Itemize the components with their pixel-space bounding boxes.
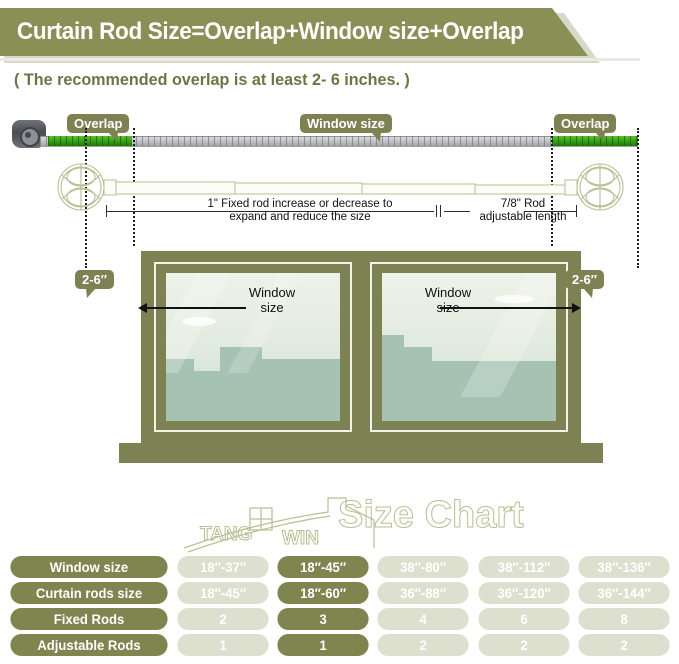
table-cell: 2 — [378, 634, 469, 656]
table-row: Curtain rods size 18″-45″ 18″-60″ 36″-88… — [8, 582, 671, 604]
building-silhouette — [194, 371, 220, 421]
tag-overlap-right-label: 2-6″ — [572, 272, 597, 287]
callout-window-size-label: Window size — [307, 116, 385, 131]
building-silhouette — [262, 359, 340, 421]
brand-logo: TANG WIN Size Chart — [178, 492, 508, 554]
rod-segment-3 — [362, 184, 475, 194]
window-size-label-right-line1: Window — [410, 285, 486, 300]
table-cell: 36″-144″ — [578, 582, 669, 604]
dim-text-adjustable-line1: 7/8" Rod — [462, 198, 584, 211]
table-cell: 18″-60″ — [278, 582, 369, 604]
table-cell: 4 — [378, 608, 469, 630]
table-cell: 18″-45″ — [278, 556, 369, 578]
tag-overlap-left-label: 2-6″ — [82, 272, 107, 287]
finial-left-icon — [58, 164, 104, 210]
callout-overlap-left: Overlap — [67, 114, 129, 133]
table-cell: 6 — [478, 608, 569, 630]
header-banner: Curtain Rod Size=Overlap+Window size+Ove… — [0, 8, 600, 58]
row-label: Curtain rods size — [10, 582, 167, 604]
callout-tail — [595, 132, 609, 142]
dim-text-fixed-rod-line2: expand and reduce the size — [178, 211, 422, 224]
callout-tail — [583, 288, 597, 298]
logo-title: Size Chart — [338, 494, 524, 537]
table-cell: 18″-37″ — [177, 556, 268, 578]
callout-tail — [108, 132, 122, 142]
callout-overlap-left-label: Overlap — [74, 116, 122, 131]
tag-overlap-right: 2-6″ — [565, 270, 604, 289]
dim-cap-fixed-left — [106, 205, 107, 217]
overlap-ticks-right — [552, 136, 638, 146]
rod-segment-4 — [475, 185, 565, 194]
dim-break-a — [436, 205, 437, 217]
callout-tail — [82, 288, 96, 298]
cloud-shape — [182, 317, 216, 326]
callout-window-size: Window size — [300, 114, 392, 133]
table-cell: 38″-112″ — [478, 556, 569, 578]
tape-measure-hub-icon — [25, 132, 31, 138]
rod-collar-right — [565, 180, 577, 195]
rod-segment-2 — [235, 183, 362, 194]
page-title: Curtain Rod Size=Overlap+Window size+Ove… — [0, 18, 524, 46]
table-cell: 8 — [578, 608, 669, 630]
building-silhouette — [382, 335, 404, 421]
table-cell: 36″-120″ — [478, 582, 569, 604]
measure-arrow-line-left — [146, 307, 246, 309]
cloud-shape — [494, 295, 534, 303]
building-silhouette — [404, 347, 432, 421]
dim-break-b — [440, 205, 441, 217]
callout-overlap-right-label: Overlap — [561, 116, 609, 131]
table-cell: 38″-136″ — [578, 556, 669, 578]
callout-overlap-right: Overlap — [554, 114, 616, 133]
window-size-label-right: Window size — [410, 285, 486, 315]
rod-collar-left — [104, 180, 116, 195]
table-cell: 1 — [177, 634, 268, 656]
window-sill — [119, 443, 603, 463]
logo-brand-right: WIN — [282, 528, 319, 549]
window-size-label-left: Window size — [234, 285, 310, 315]
dim-text-fixed-rod-line1: 1" Fixed rod increase or decrease to — [178, 198, 422, 211]
table-cell: 1 — [278, 634, 369, 656]
row-label: Window size — [10, 556, 167, 578]
table-cell: 18″-45″ — [177, 582, 268, 604]
table-row: Fixed Rods 2 3 4 6 8 — [8, 608, 671, 630]
header-subtitle: ( The recommended overlap is at least 2-… — [14, 70, 410, 90]
dim-text-fixed-rod: 1" Fixed rod increase or decrease to exp… — [178, 198, 422, 224]
size-table: Window size 18″-37″ 18″-45″ 38″-80″ 38″-… — [8, 556, 671, 660]
size-chart-infographic: Curtain Rod Size=Overlap+Window size+Ove… — [0, 0, 679, 664]
table-row: Adjustable Rods 1 1 2 2 2 — [8, 634, 671, 656]
table-row: Window size 18″-37″ 18″-45″ 38″-80″ 38″-… — [8, 556, 671, 578]
measure-arrow-line-right — [440, 307, 572, 309]
rod-segment-1 — [116, 182, 235, 194]
table-cell: 2 — [177, 608, 268, 630]
row-label: Adjustable Rods — [10, 634, 167, 656]
table-cell: 38″-80″ — [378, 556, 469, 578]
table-cell: 2 — [478, 634, 569, 656]
measure-arrowhead-right — [572, 303, 581, 313]
window-size-label-left-line1: Window — [234, 285, 310, 300]
tag-overlap-left: 2-6″ — [75, 270, 114, 289]
measure-arrowhead-left — [138, 303, 147, 313]
table-cell: 3 — [278, 608, 369, 630]
dim-text-adjustable-line2: adjustable length — [462, 211, 584, 224]
dim-text-adjustable: 7/8" Rod adjustable length — [462, 198, 584, 224]
row-label: Fixed Rods — [10, 608, 167, 630]
logo-brand-left: TANG — [200, 524, 252, 545]
banner-underline — [0, 58, 640, 61]
table-cell: 36″-88″ — [378, 582, 469, 604]
banner-ribbon: Curtain Rod Size=Overlap+Window size+Ove… — [0, 8, 588, 56]
table-cell: 2 — [578, 634, 669, 656]
